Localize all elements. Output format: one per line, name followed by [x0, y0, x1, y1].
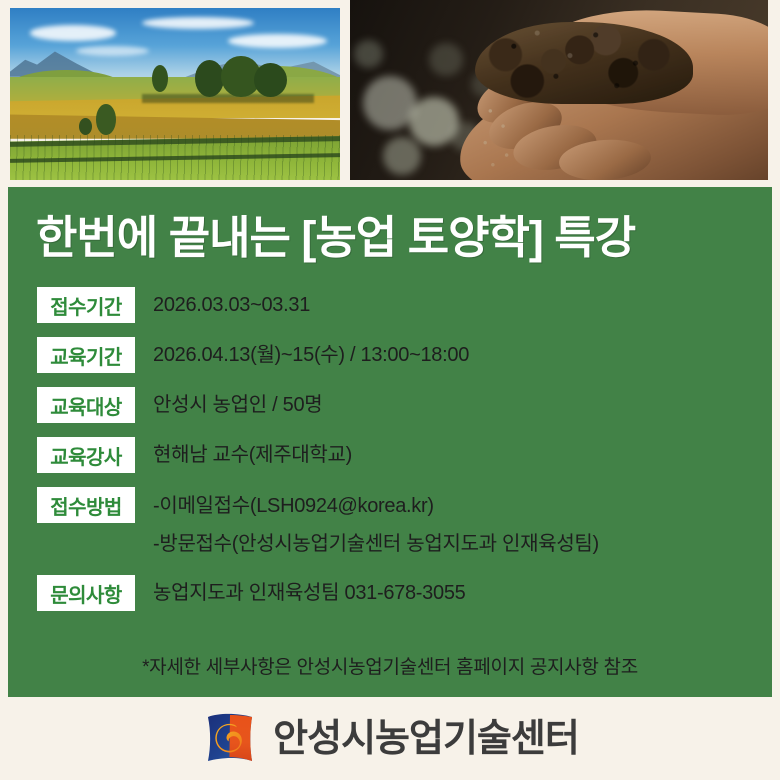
- label-badge-application-method: 접수방법: [37, 487, 135, 523]
- crop-row-texture: [10, 135, 340, 180]
- cloud-shape: [30, 25, 116, 40]
- info-row-instructor: 교육강사 현해남 교수(제주대학교): [37, 437, 743, 473]
- value-training-period: 2026.04.13(월)~15(수) / 13:00~18:00: [153, 337, 743, 373]
- value-instructor: 현해남 교수(제주대학교): [153, 437, 743, 473]
- ansung-city-emblem-icon: [201, 710, 259, 768]
- label-badge-application-period: 접수기간: [37, 287, 135, 323]
- info-row-training-period: 교육기간 2026.04.13(월)~15(수) / 13:00~18:00: [37, 337, 743, 373]
- photo-band: [0, 0, 780, 187]
- value-application-method: -이메일접수(LSH0924@korea.kr) -방문접수(안성시농업기술센터…: [153, 487, 743, 563]
- label-badge-target-audience: 교육대상: [37, 387, 135, 423]
- footnote-text: *자세한 세부사항은 안성시농업기술센터 홈페이지 공지사항 참조: [8, 652, 772, 679]
- label-badge-training-period: 교육기간: [37, 337, 135, 373]
- info-list: 접수기간 2026.03.03~03.31 교육기간 2026.04.13(월)…: [37, 287, 743, 625]
- poster-root: 한번에 끝내는 [농업 토양학] 특강 접수기간 2026.03.03~03.3…: [0, 0, 780, 780]
- info-row-inquiries: 문의사항 농업지도과 인재육성팀 031-678-3055: [37, 575, 743, 611]
- value-inquiries: 농업지도과 인재육성팀 031-678-3055: [153, 575, 743, 611]
- value-target-audience: 안성시 농업인 / 50명: [153, 387, 743, 423]
- tree-shadow: [142, 94, 314, 103]
- bokeh-circle: [383, 137, 421, 175]
- info-row-target-audience: 교육대상 안성시 농업인 / 50명: [37, 387, 743, 423]
- info-row-application-period: 접수기간 2026.03.03~03.31: [37, 287, 743, 323]
- value-application-period: 2026.03.03~03.31: [153, 287, 743, 323]
- page-title: 한번에 끝내는 [농업 토양학] 특강: [36, 201, 756, 266]
- application-method-email: -이메일접수(LSH0924@korea.kr): [153, 487, 743, 525]
- cloud-shape: [76, 46, 149, 56]
- cloud-shape: [142, 17, 254, 29]
- label-badge-inquiries: 문의사항: [37, 575, 135, 611]
- organization-name: 안성시농업기술센터: [273, 720, 579, 758]
- tree-shape: [96, 104, 116, 135]
- soil-in-hands-photo: [350, 0, 768, 180]
- application-method-visit: -방문접수(안성시농업기술센터 농업지도과 인재육성팀): [153, 525, 743, 563]
- info-panel: 한번에 끝내는 [농업 토양학] 특강 접수기간 2026.03.03~03.3…: [8, 187, 772, 697]
- info-row-application-method: 접수방법 -이메일접수(LSH0924@korea.kr) -방문접수(안성시농…: [37, 487, 743, 563]
- cloud-shape: [228, 34, 327, 48]
- footer-logo-area: 안성시농업기술센터: [0, 697, 780, 780]
- bokeh-circle: [429, 43, 462, 75]
- falling-soil-dust: [475, 104, 525, 172]
- farmland-photo: [10, 8, 340, 180]
- label-badge-instructor: 교육강사: [37, 437, 135, 473]
